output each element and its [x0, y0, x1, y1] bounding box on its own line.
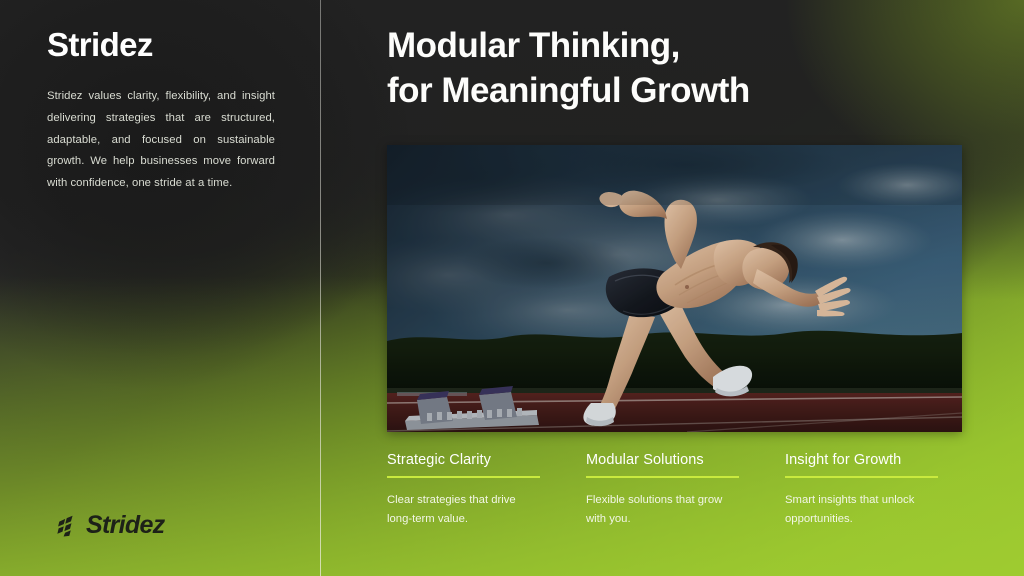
- feature-list: Strategic Clarity Clear strategies that …: [387, 452, 987, 528]
- feature-underline: [387, 476, 540, 478]
- brand-title: Stridez: [47, 26, 153, 64]
- brand-description: Stridez values clarity, flexibility, and…: [47, 86, 275, 195]
- left-panel: Stridez Stridez values clarity, flexibil…: [0, 0, 320, 576]
- headline-line-1: Modular Thinking,: [387, 24, 987, 69]
- feature-title: Modular Solutions: [586, 452, 785, 468]
- presentation-slide: Stridez Stridez values clarity, flexibil…: [0, 0, 1024, 576]
- feature-description: Clear strategies that drive long-term va…: [387, 491, 539, 528]
- feature-title: Insight for Growth: [785, 452, 984, 468]
- right-panel: Modular Thinking, for Meaningful Growth: [320, 0, 1024, 576]
- feature-title: Strategic Clarity: [387, 452, 586, 468]
- feature-underline: [586, 476, 739, 478]
- feature-description: Flexible solutions that grow with you.: [586, 491, 738, 528]
- stridez-pinwheel-icon: [57, 515, 79, 537]
- hero-photo: [387, 145, 962, 432]
- feature-item-strategic-clarity: Strategic Clarity Clear strategies that …: [387, 452, 586, 528]
- logo-lockup: Stridez: [57, 511, 164, 540]
- feature-underline: [785, 476, 938, 478]
- headline-line-2: for Meaningful Growth: [387, 69, 987, 114]
- feature-item-modular-solutions: Modular Solutions Flexible solutions tha…: [586, 452, 785, 528]
- page-title: Modular Thinking, for Meaningful Growth: [387, 24, 987, 114]
- feature-description: Smart insights that unlock opportunities…: [785, 491, 937, 528]
- logo-wordmark: Stridez: [86, 511, 164, 540]
- feature-item-insight-for-growth: Insight for Growth Smart insights that u…: [785, 452, 984, 528]
